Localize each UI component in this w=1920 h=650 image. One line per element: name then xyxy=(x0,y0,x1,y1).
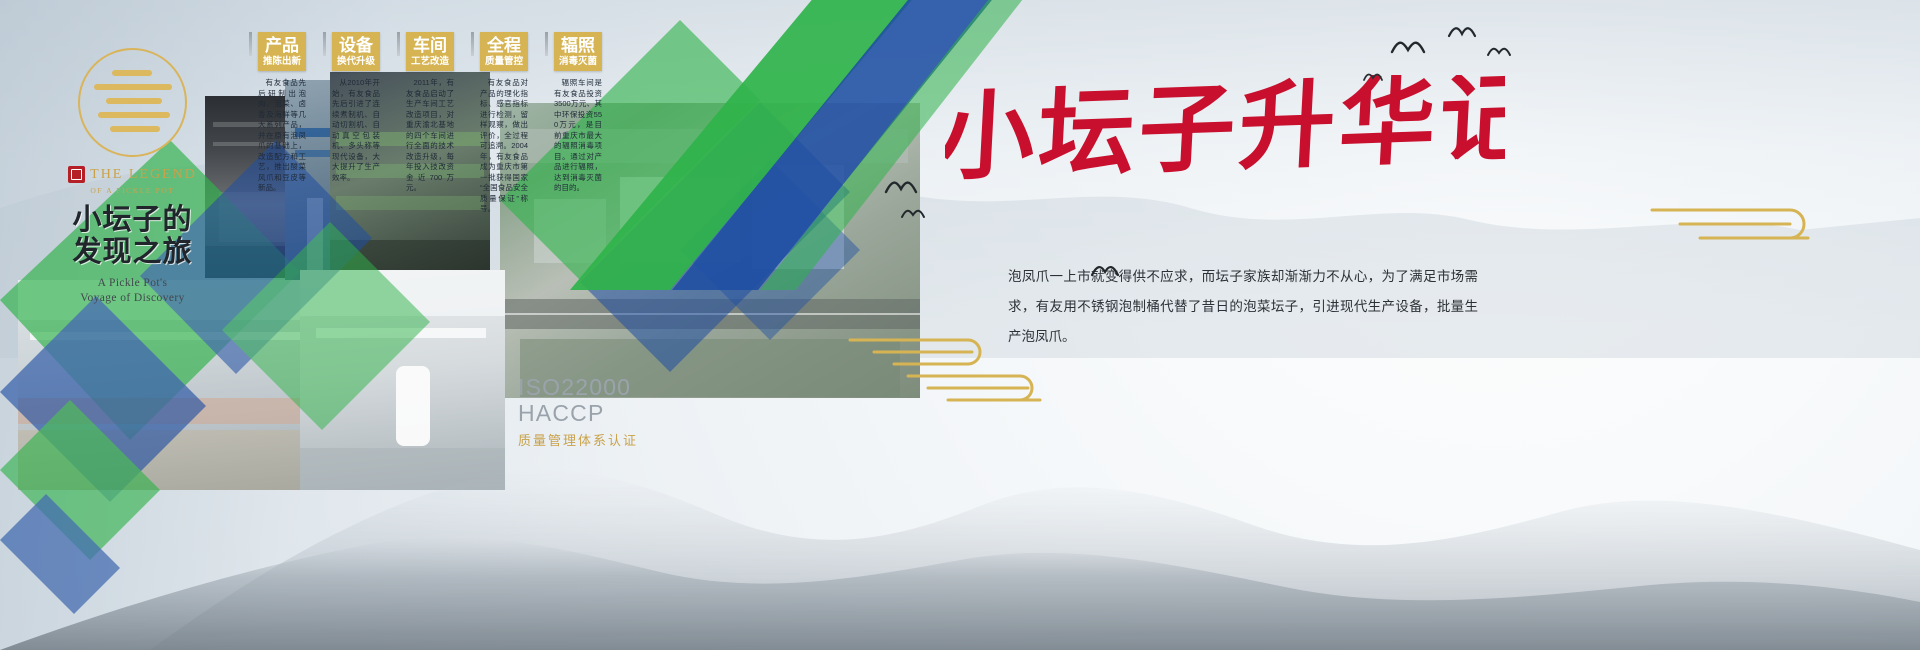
photo-clean-room xyxy=(18,280,318,490)
column-heading: 设备 xyxy=(332,36,380,55)
column-heading: 全程 xyxy=(480,36,528,55)
column-subheading: 推陈出新 xyxy=(258,56,306,68)
column-rule xyxy=(545,32,548,56)
column-caption: 辐照 消毒灭菌 xyxy=(554,32,602,71)
column-heading: 车间 xyxy=(406,36,454,55)
legend-en-text: THE LEGEND xyxy=(90,167,197,183)
info-column-irradiation: 辐照 消毒灭菌 辐照车间是有友食品投资3500万元、其中环保投资550万元，是目… xyxy=(554,32,602,215)
column-subheading: 消毒灭菌 xyxy=(554,56,602,68)
legend-line: THE LEGEND xyxy=(40,166,225,183)
column-rule xyxy=(323,32,326,56)
column-caption: 产品 推陈出新 xyxy=(258,32,306,71)
column-caption: 全程 质量管控 xyxy=(480,32,528,71)
info-column-quality: 全程 质量管控 有友食品对产品的理化指标、感官指标进行检测，留样观察，做出评价，… xyxy=(480,32,528,215)
column-body: 辐照车间是有友食品投资3500万元、其中环保投资550万元，是目前重庆市最大的辐… xyxy=(554,78,602,194)
headline-text: 小坛子升华记 xyxy=(945,75,1505,192)
headline-svg: 小坛子升华记 xyxy=(945,75,1505,205)
legend-sub-text: OF A PICKLE POT xyxy=(40,186,225,195)
column-rule xyxy=(249,32,252,56)
certification-block: ISO22000 HACCP 质量管理体系认证 xyxy=(518,374,638,449)
flying-bird-icon-3 xyxy=(1486,44,1512,62)
column-body: 从2010年开始，有友食品先后引进了连续煮制机、自动切割机、自动真空包装机、多头… xyxy=(332,78,380,183)
column-caption: 车间 工艺改造 xyxy=(406,32,454,71)
brand-title: 小坛子的 发现之旅 xyxy=(40,204,225,268)
brand-subtitle-line1: A Pickle Pot's xyxy=(40,276,225,291)
cert-line-cn: 质量管理体系认证 xyxy=(518,430,638,449)
brand-block: THE LEGEND OF A PICKLE POT 小坛子的 发现之旅 A P… xyxy=(40,48,225,306)
info-column-workshop: 车间 工艺改造 2011年，有友食品启动了生产车间工艺改造项目，对重庆渝北基地的… xyxy=(406,32,454,215)
cert-line-iso: ISO22000 xyxy=(518,374,638,400)
brand-title-line2: 发现之旅 xyxy=(40,236,225,268)
column-subheading: 质量管控 xyxy=(480,56,528,68)
info-columns: 产品 推陈出新 有友食品先后研制出泡肉、泡菜、卤香及海鲜等几大系列产品，并在原有… xyxy=(258,32,602,215)
info-column-product: 产品 推陈出新 有友食品先后研制出泡肉、泡菜、卤香及海鲜等几大系列产品，并在原有… xyxy=(258,32,306,215)
brand-subtitle: A Pickle Pot's Voyage of Discovery xyxy=(40,276,225,306)
description-paragraph: 泡凤爪一上市就变得供不应求，而坛子家族却渐渐力不从心，为了满足市场需求，有友用不… xyxy=(1008,262,1478,352)
column-body: 有友食品对产品的理化指标、感官指标进行检测，留样观察，做出评价，全过程可追溯。2… xyxy=(480,78,528,215)
column-body: 有友食品先后研制出泡肉、泡菜、卤香及海鲜等几大系列产品，并在原有泡凤爪的基础上，… xyxy=(258,78,306,194)
info-column-equipment: 设备 换代升级 从2010年开始，有友食品先后引进了连续煮制机、自动切割机、自动… xyxy=(332,32,380,215)
brand-title-line1: 小坛子的 xyxy=(40,204,225,236)
column-rule xyxy=(397,32,400,56)
gold-cloud-motif-icon xyxy=(1640,198,1820,258)
column-subheading: 工艺改造 xyxy=(406,56,454,68)
column-body: 2011年，有友食品启动了生产车间工艺改造项目，对重庆渝北基地的四个车间进行全面… xyxy=(406,78,454,194)
column-heading: 产品 xyxy=(258,36,306,55)
column-subheading: 换代升级 xyxy=(332,56,380,68)
flying-bird-icon-2 xyxy=(1447,24,1477,44)
flying-bird-icon xyxy=(1390,38,1426,60)
column-rule xyxy=(471,32,474,56)
column-caption: 设备 换代升级 xyxy=(332,32,380,71)
cert-line-haccp: HACCP xyxy=(518,400,638,426)
banner-stage: THE LEGEND OF A PICKLE POT 小坛子的 发现之旅 A P… xyxy=(0,0,1920,650)
brand-subtitle-line2: Voyage of Discovery xyxy=(40,291,225,306)
photo-worker xyxy=(300,270,505,490)
gold-circle-seal-icon xyxy=(78,48,187,157)
column-heading: 辐照 xyxy=(554,36,602,55)
red-square-seal-icon xyxy=(68,166,85,183)
headline-calligraphy: 小坛子升华记 xyxy=(945,75,1505,205)
